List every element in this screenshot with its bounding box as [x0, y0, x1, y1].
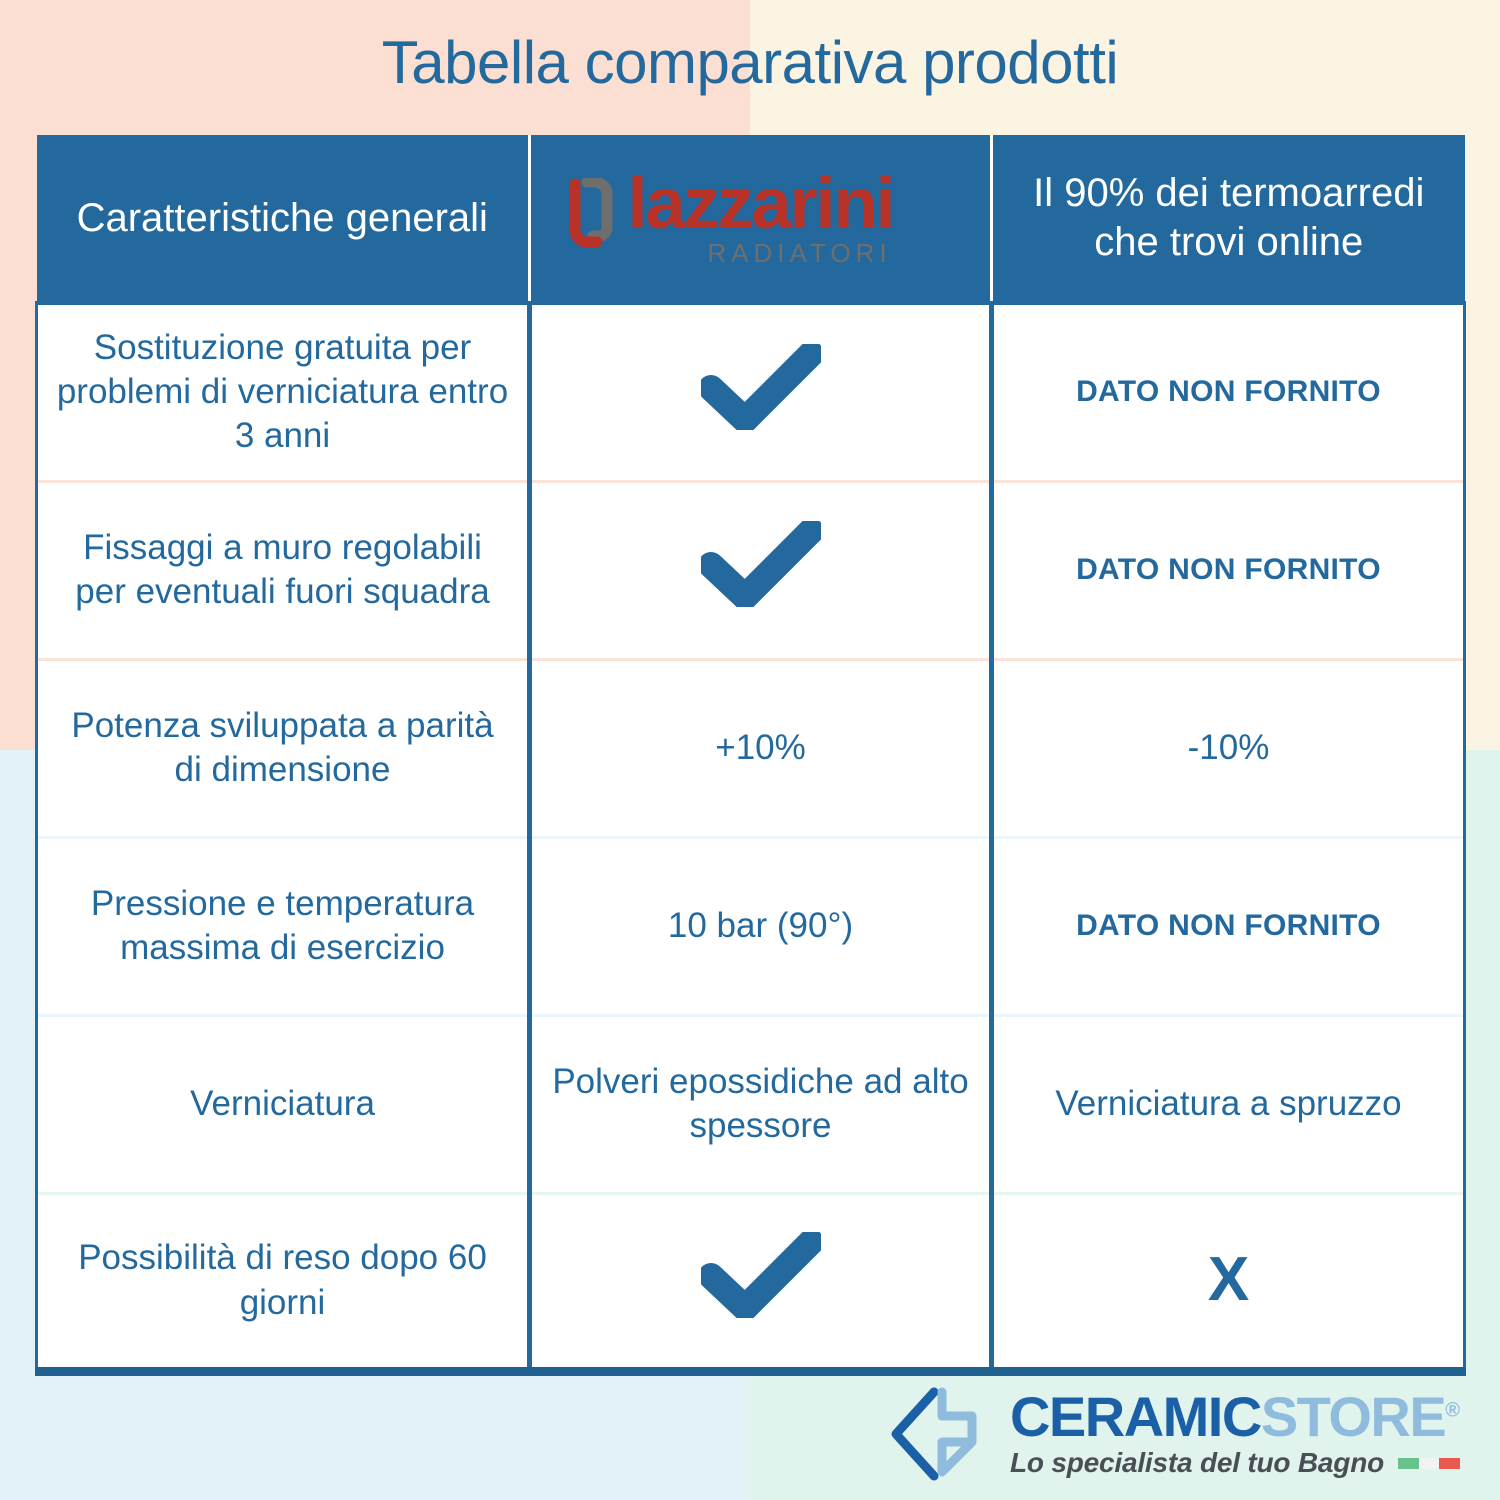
page-title: Tabella comparativa prodotti	[0, 28, 1500, 97]
table-row: Potenza sviluppata a parità di dimension…	[37, 659, 1465, 837]
lazzarini-value	[530, 481, 992, 659]
table-row: Possibilità di reso dopo 60 giorni X	[37, 1193, 1465, 1371]
lazzarini-subtitle: RADIATORI	[627, 240, 891, 266]
competitor-value: DATO NON FORNITO	[992, 837, 1465, 1015]
competitor-value: DATO NON FORNITO	[992, 481, 1465, 659]
feature-label: Possibilità di reso dopo 60 giorni	[37, 1193, 530, 1371]
tagline-row: Lo specialista del tuo Bagno	[1010, 1447, 1460, 1479]
lazzarini-value: 10 bar (90°)	[530, 837, 992, 1015]
check-icon	[701, 521, 821, 607]
feature-label: Verniciatura	[37, 1015, 530, 1193]
cross-icon: X	[1208, 1245, 1249, 1314]
lazzarini-logo: lazzarini RADIATORI	[545, 170, 976, 266]
ceramicstore-diamond-icon	[886, 1386, 990, 1482]
brand-part-store: STORE	[1261, 1385, 1445, 1448]
feature-label: Pressione e temperatura massima di eserc…	[37, 837, 530, 1015]
header-row: Caratteristiche generali lazzar	[37, 135, 1465, 303]
comparison-table: Caratteristiche generali lazzar	[35, 135, 1466, 1376]
table-row: Verniciatura Polveri epossidiche ad alto…	[37, 1015, 1465, 1193]
brand-part-ceramic: CERAMIC	[1010, 1385, 1261, 1448]
feature-label: Potenza sviluppata a parità di dimension…	[37, 659, 530, 837]
check-icon	[701, 344, 821, 430]
lazzarini-mark-icon	[565, 178, 617, 250]
brand-tagline: Lo specialista del tuo Bagno	[1010, 1447, 1384, 1479]
competitor-value: Verniciatura a spruzzo	[992, 1015, 1465, 1193]
lazzarini-wordmark: lazzarini	[627, 170, 893, 238]
feature-label: Fissaggi a muro regolabili per eventuali…	[37, 481, 530, 659]
check-icon	[701, 1232, 821, 1318]
comparison-table-wrapper: Caratteristiche generali lazzar	[35, 135, 1463, 1376]
table-row: Sostituzione gratuita per problemi di ve…	[37, 303, 1465, 481]
competitor-value: -10%	[992, 659, 1465, 837]
header-cell-competitors: Il 90% dei termoarredi che trovi online	[992, 135, 1465, 303]
registered-mark: ®	[1445, 1399, 1460, 1421]
comparison-infographic: Tabella comparativa prodotti Caratterist…	[0, 0, 1500, 1500]
lazzarini-value: +10%	[530, 659, 992, 837]
table-body: Sostituzione gratuita per problemi di ve…	[37, 303, 1465, 1371]
ceramicstore-wordmark: CERAMICSTORE®	[1010, 1389, 1460, 1445]
table-row: Fissaggi a muro regolabili per eventuali…	[37, 481, 1465, 659]
ceramicstore-logo[interactable]: CERAMICSTORE® Lo specialista del tuo Bag…	[886, 1386, 1460, 1482]
competitor-value: X	[992, 1193, 1465, 1371]
header-cell-lazzarini: lazzarini RADIATORI	[530, 135, 992, 303]
lazzarini-value: Polveri epossidiche ad alto spessore	[530, 1015, 992, 1193]
competitor-value: DATO NON FORNITO	[992, 303, 1465, 481]
lazzarini-value	[530, 303, 992, 481]
feature-label: Sostituzione gratuita per problemi di ve…	[37, 303, 530, 481]
header-cell-features: Caratteristiche generali	[37, 135, 530, 303]
table-header: Caratteristiche generali lazzar	[37, 135, 1465, 303]
italian-flag-icon	[1398, 1458, 1460, 1469]
lazzarini-value	[530, 1193, 992, 1371]
table-row: Pressione e temperatura massima di eserc…	[37, 837, 1465, 1015]
